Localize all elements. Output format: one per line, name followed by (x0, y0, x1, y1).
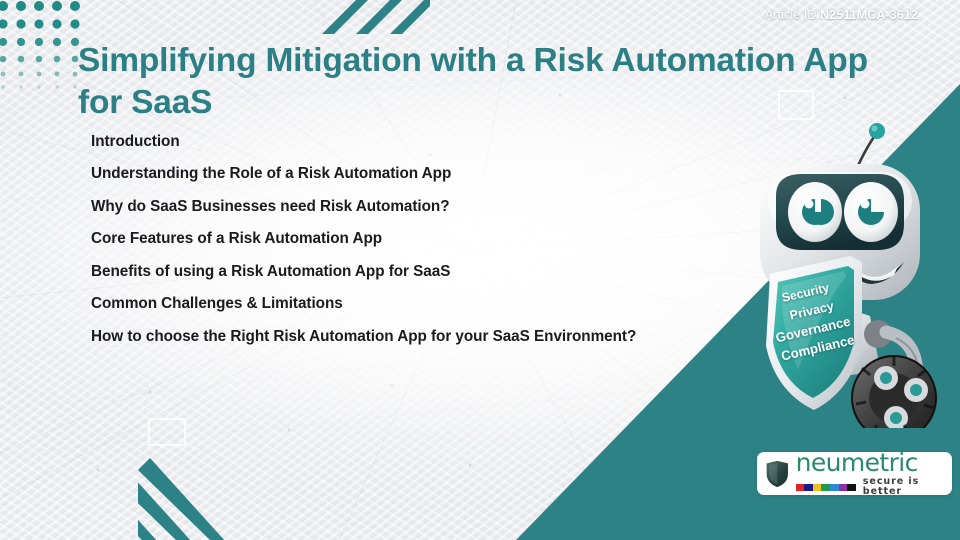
logo-wordmark: neumetric (796, 450, 944, 475)
list-item: How to choose the Right Risk Automation … (91, 329, 751, 345)
article-id-label: Article ID (765, 8, 817, 22)
logo-color-bars (796, 484, 856, 491)
list-item: Benefits of using a Risk Automation App … (91, 264, 751, 280)
shield-icon (765, 457, 790, 491)
list-item: Understanding the Role of a Risk Automat… (91, 166, 751, 182)
list-item: Common Challenges & Limitations (91, 296, 751, 312)
list-item: Introduction (91, 134, 751, 150)
slide: Article ID N2511MCA-3612 Simplifying Mit… (0, 0, 960, 540)
agenda-list: Introduction Understanding the Role of a… (91, 134, 751, 361)
list-item: Why do SaaS Businesses need Risk Automat… (91, 199, 751, 215)
diagonal-stripes-top (322, 0, 430, 36)
article-id-value: N2511MCA-3612 (820, 8, 918, 22)
neumetric-logo[interactable]: neumetric secure is better (757, 452, 952, 495)
diagonal-stripes-bottom (138, 458, 270, 540)
article-id: Article ID N2511MCA-3612 (765, 8, 918, 22)
logo-tagline: secure is better (863, 477, 944, 496)
robot-mascot-icon (726, 108, 960, 428)
list-item: Core Features of a Risk Automation App (91, 231, 751, 247)
